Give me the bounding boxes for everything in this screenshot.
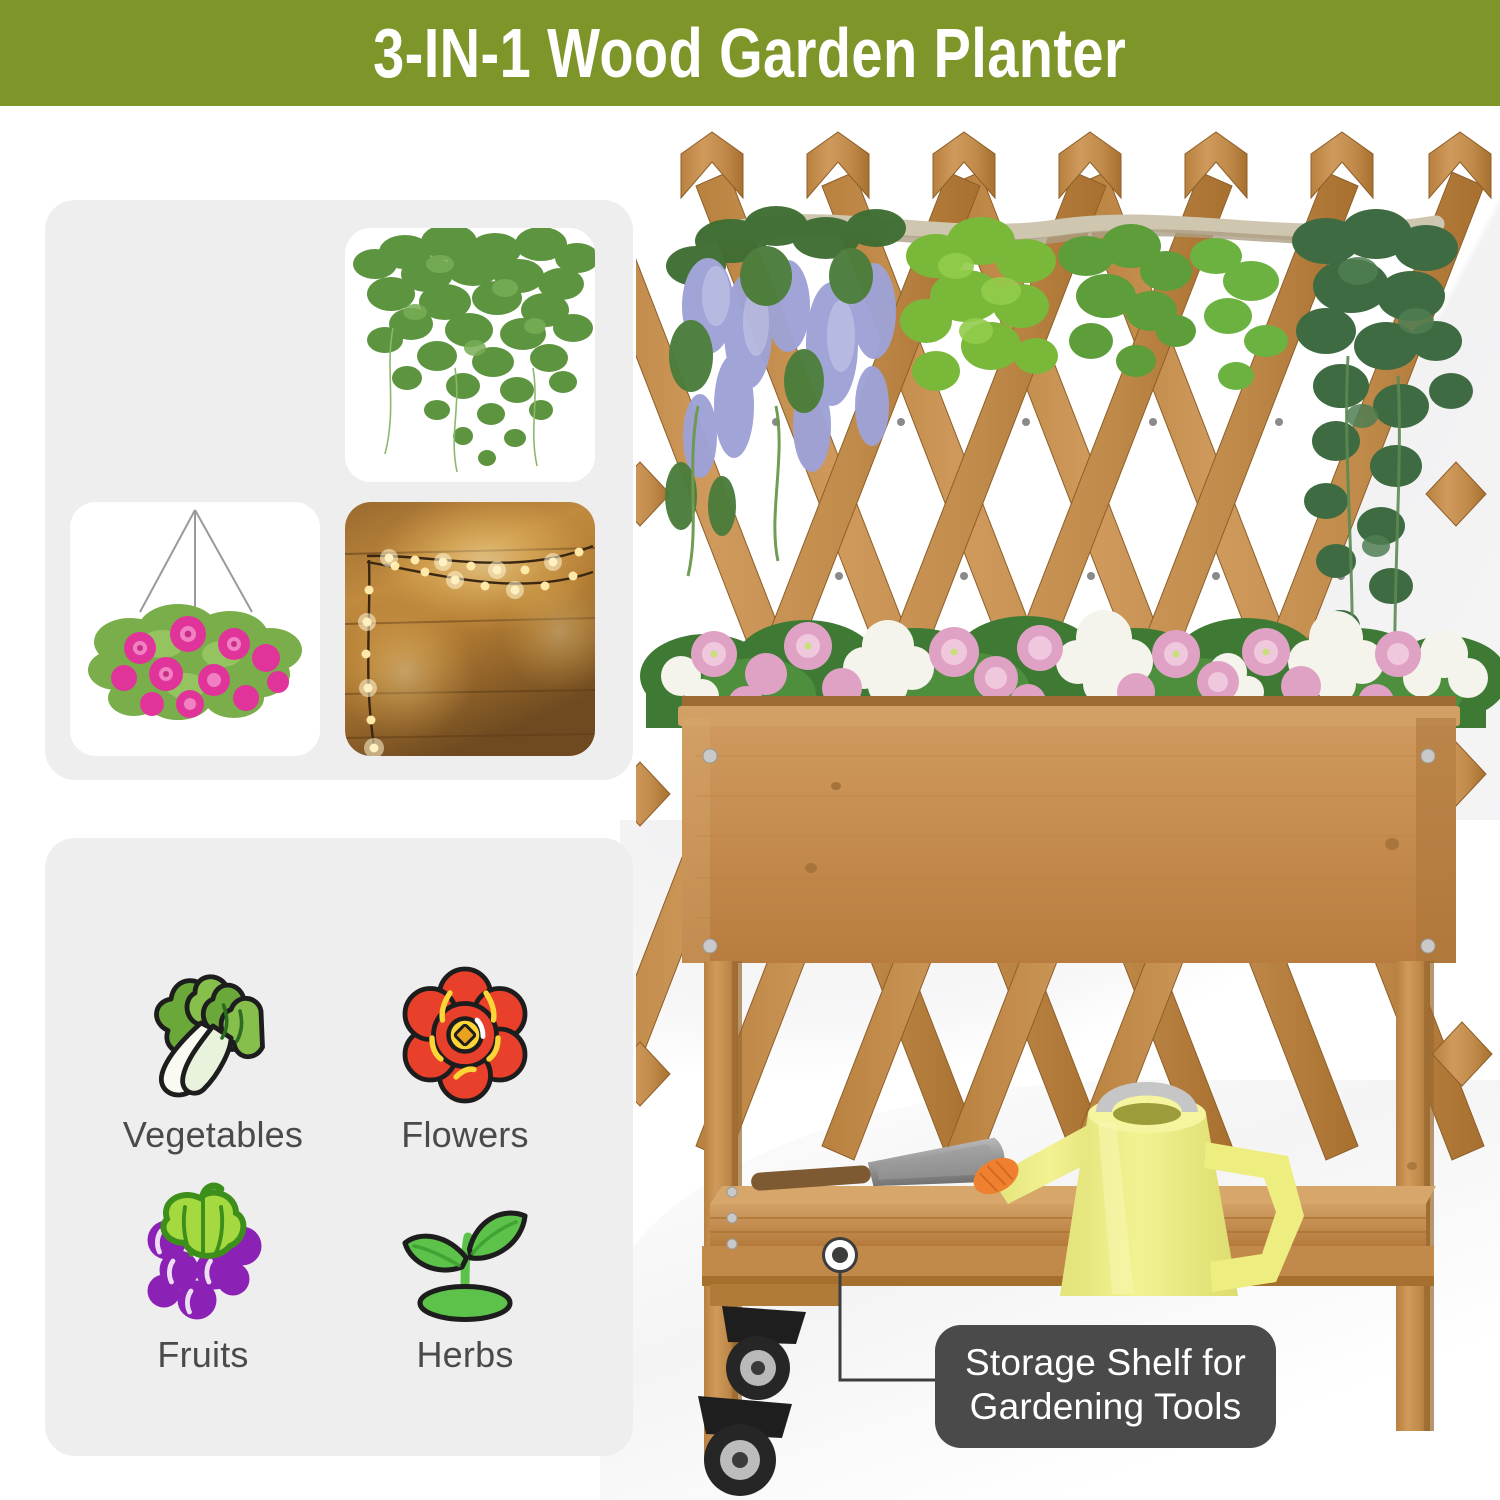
planter-use-vegetables: Vegetables (88, 960, 338, 1156)
callout-marker-dot (822, 1237, 858, 1273)
grapes-icon (128, 1180, 278, 1330)
planter-use-label: Herbs (340, 1334, 590, 1376)
storage-shelf-callout: Storage Shelf for Gardening Tools (935, 1325, 1276, 1448)
bok-choy-icon (138, 960, 288, 1110)
flower-icon (390, 960, 540, 1110)
planter-use-fruits: Fruits (78, 1180, 328, 1376)
page-title: 3-IN-1 Wood Garden Planter (373, 18, 1126, 88)
hanging-flower-basket-photo (70, 502, 320, 756)
planter-use-label: Flowers (340, 1114, 590, 1156)
planter-use-label: Fruits (78, 1334, 328, 1376)
seedling-icon (390, 1180, 540, 1330)
header-banner: 3-IN-1 Wood Garden Planter (0, 0, 1500, 106)
string-lights-photo (345, 502, 595, 756)
planter-use-flowers: Flowers (340, 960, 590, 1156)
planter-use-herbs: Herbs (340, 1180, 590, 1376)
planter-use-label: Vegetables (88, 1114, 338, 1156)
storage-shelf-callout-text: Storage Shelf for Gardening Tools (965, 1341, 1246, 1428)
hanging-ivy-photo (345, 228, 595, 482)
